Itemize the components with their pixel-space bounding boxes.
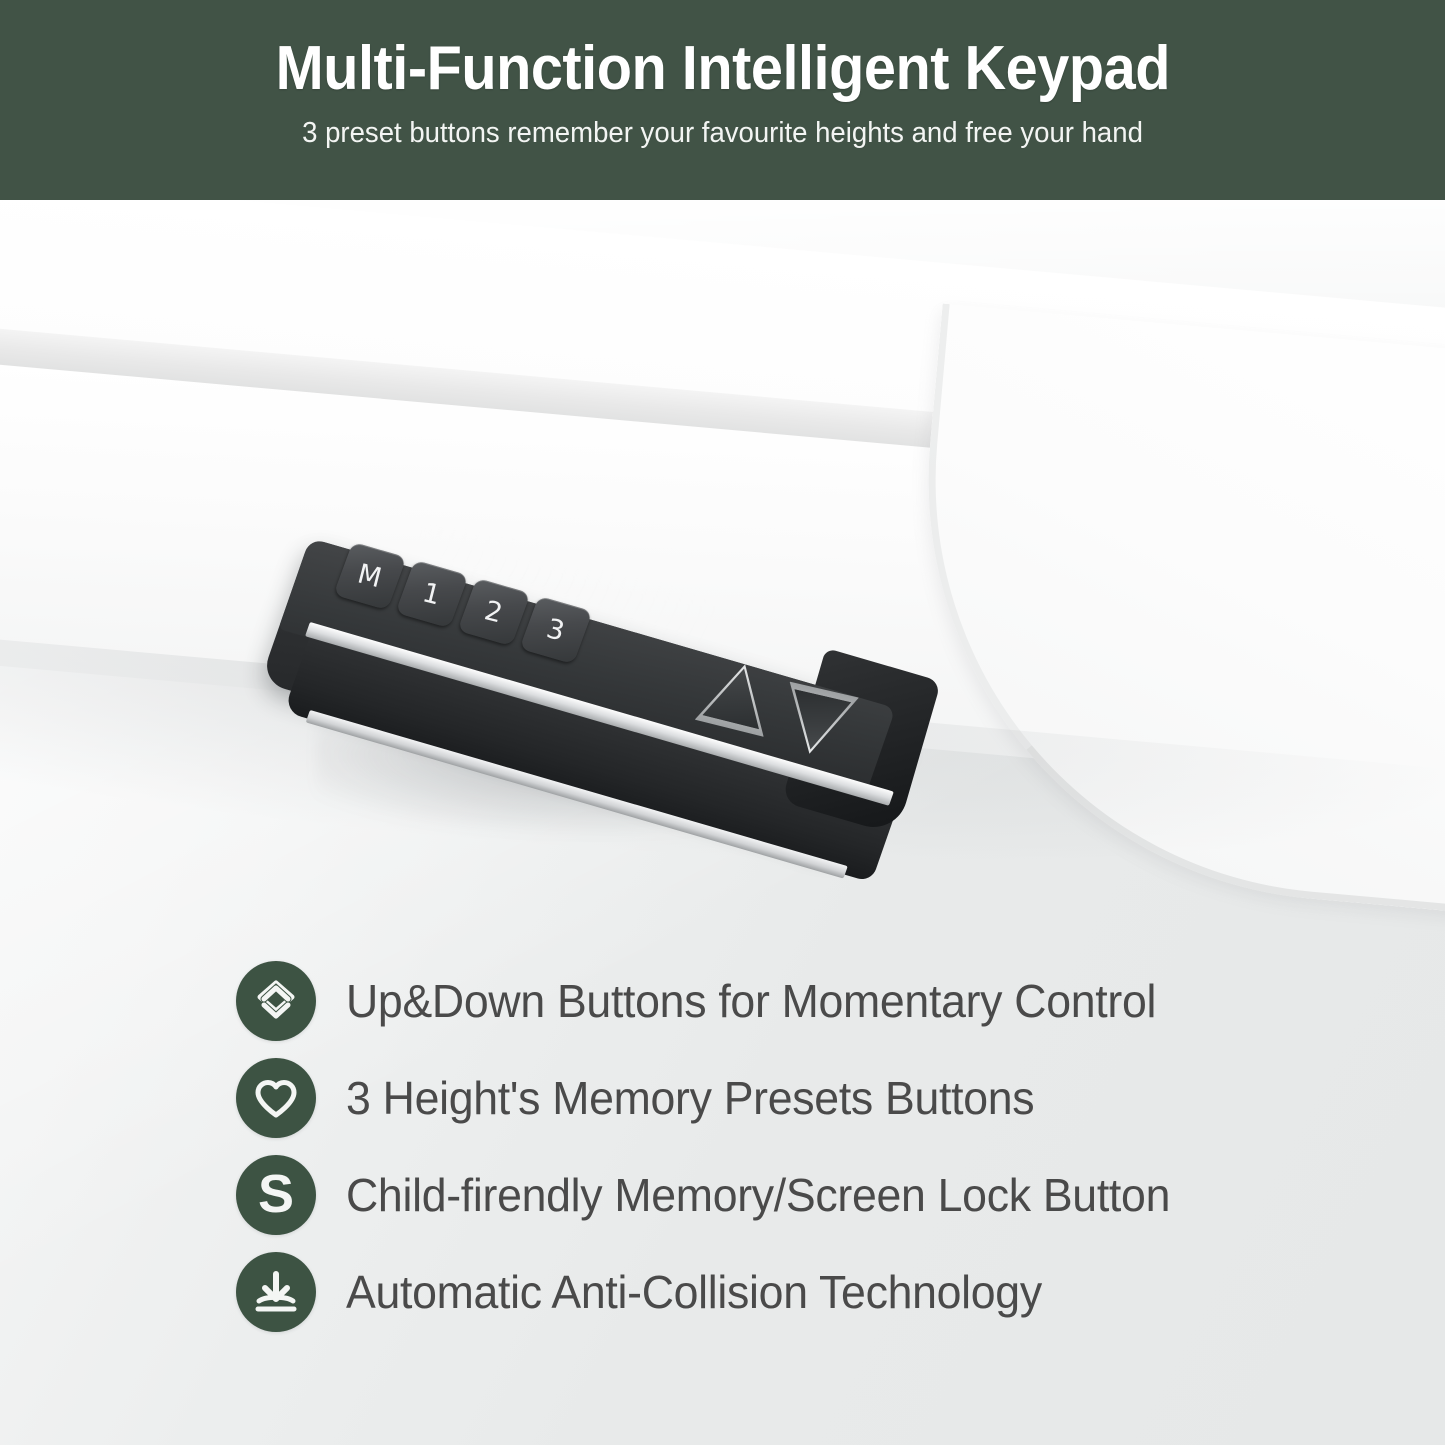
feature-label-anti-collision: Automatic Anti-Collision Technology [346, 1265, 1042, 1319]
feature-label-screen-lock: Child-firendly Memory/Screen Lock Button [346, 1168, 1170, 1222]
product-feature-image: M 1 2 3 Multi-Function Intelligent Keypa… [0, 0, 1445, 1445]
feature-label-up-down: Up&Down Buttons for Momentary Control [346, 974, 1156, 1028]
memory-button-label: M [355, 558, 386, 594]
anti-collision-icon [236, 1252, 316, 1332]
heart-icon [236, 1058, 316, 1138]
feature-list: Up&Down Buttons for Momentary Control 3 … [236, 952, 1356, 1340]
feature-item-memory-presets: 3 Height's Memory Presets Buttons [236, 1049, 1356, 1146]
keypad-control-panel[interactable]: M 1 2 3 [296, 520, 976, 880]
up-down-diamond-icon [236, 961, 316, 1041]
feature-label-memory-presets: 3 Height's Memory Presets Buttons [346, 1071, 1034, 1125]
preset-2-button-label: 2 [482, 595, 507, 629]
s-lock-icon-glyph: S [258, 1167, 294, 1221]
feature-item-up-down: Up&Down Buttons for Momentary Control [236, 952, 1356, 1049]
feature-item-anti-collision: Automatic Anti-Collision Technology [236, 1243, 1356, 1340]
preset-1-button-label: 1 [420, 577, 445, 611]
s-lock-icon: S [236, 1155, 316, 1235]
feature-item-screen-lock: S Child-firendly Memory/Screen Lock Butt… [236, 1146, 1356, 1243]
header-banner: Multi-Function Intelligent Keypad 3 pres… [0, 0, 1445, 200]
page-subtitle: 3 preset buttons remember your favourite… [302, 117, 1143, 150]
page-title: Multi-Function Intelligent Keypad [275, 36, 1169, 101]
preset-3-button-label: 3 [544, 613, 569, 647]
